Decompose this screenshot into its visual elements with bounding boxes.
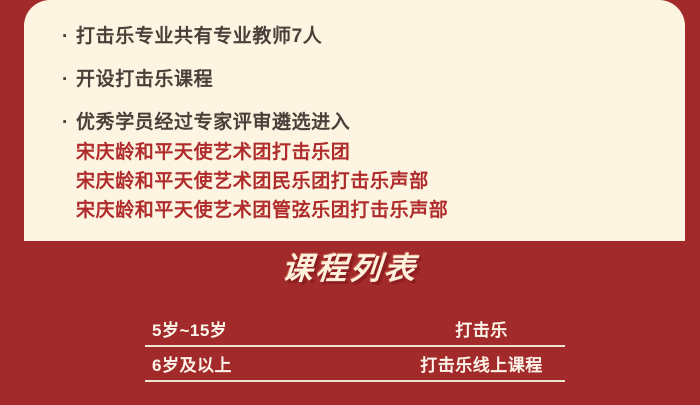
info-line: 优秀学员经过专家评审遴选进入: [76, 108, 685, 138]
info-line: 开设打击乐课程: [76, 65, 685, 95]
info-line: 打击乐专业共有专业教师7人: [76, 22, 685, 52]
cell-course-name: 打击乐线上课程: [400, 351, 565, 376]
cell-age-range: 5岁~15岁: [145, 316, 400, 341]
cell-course-name: 打击乐: [400, 316, 565, 341]
info-bullet-body: 打击乐专业共有专业教师7人: [76, 22, 685, 52]
info-bullet-item: 开设打击乐课程: [62, 65, 685, 95]
bullet-dot-icon: [62, 65, 76, 95]
info-bullet-body: 优秀学员经过专家评审遴选进入 宋庆龄和平天使艺术团打击乐团 宋庆龄和平天使艺术团…: [76, 108, 685, 225]
ensemble-name: 宋庆龄和平天使艺术团管弦乐团打击乐声部: [76, 196, 685, 225]
bullet-dot-icon: [62, 108, 76, 138]
course-table: 5岁~15岁 打击乐 6岁及以上 打击乐线上课程: [145, 312, 565, 382]
section-title: 课程列表: [280, 250, 419, 288]
cell-age-range: 6岁及以上: [145, 351, 400, 376]
table-row: 5岁~15岁 打击乐: [145, 312, 565, 347]
info-bullet-item: 打击乐专业共有专业教师7人: [62, 22, 685, 52]
info-card: 打击乐专业共有专业教师7人 开设打击乐课程 优秀学员经过专家评审遴选进入 宋庆龄…: [24, 0, 685, 241]
table-row: 6岁及以上 打击乐线上课程: [145, 347, 565, 382]
section-title-container: 课程列表: [0, 250, 700, 288]
bullet-dot-icon: [62, 22, 76, 52]
info-bullet-body: 开设打击乐课程: [76, 65, 685, 95]
info-bullet-item: 优秀学员经过专家评审遴选进入 宋庆龄和平天使艺术团打击乐团 宋庆龄和平天使艺术团…: [62, 108, 685, 225]
poster-canvas: 打击乐专业共有专业教师7人 开设打击乐课程 优秀学员经过专家评审遴选进入 宋庆龄…: [0, 0, 700, 405]
ensemble-name: 宋庆龄和平天使艺术团民乐团打击乐声部: [76, 167, 685, 196]
ensemble-name: 宋庆龄和平天使艺术团打击乐团: [76, 138, 685, 167]
